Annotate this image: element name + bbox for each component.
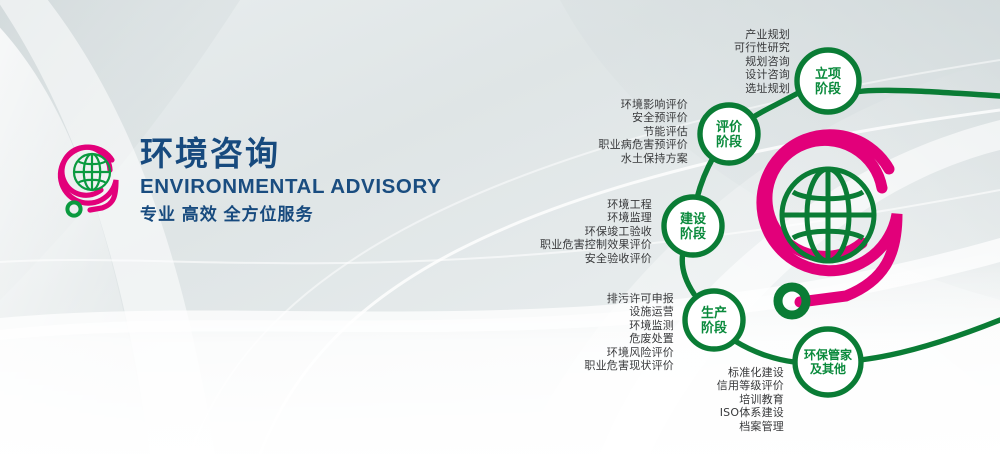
- node-circle-evaluation[interactable]: [700, 105, 758, 163]
- node-circle-construction[interactable]: [664, 197, 722, 255]
- item-list-production: 排污许可申报 设施运营 环境监测 危废处置 环境风险评价 职业危害现状评价: [530, 292, 674, 372]
- process-diagram: [0, 0, 1000, 454]
- item-list-evaluation: 环境影响评价 安全预评价 节能评估 职业病危害预评价 水土保持方案: [548, 98, 688, 165]
- banner-canvas: 环境咨询 ENVIRONMENTAL ADVISORY 专业 高效 全方位服务: [0, 0, 1000, 454]
- node-circle-initiation[interactable]: [797, 50, 859, 112]
- globe-icon: [782, 169, 874, 261]
- item-list-construction: 环境工程 环境监理 环保竣工验收 职业危害控制效果评价 安全验收评价: [508, 198, 652, 265]
- item-list-steward: 标准化建设 信用等级评价 培训教育 ISO体系建设 档案管理: [654, 366, 784, 433]
- node-circle-production[interactable]: [685, 291, 743, 349]
- center-globe-swirl-logo-icon: [762, 135, 897, 315]
- node-circle-steward[interactable]: [795, 329, 861, 395]
- item-list-initiation: 产业规划 可行性研究 规划咨询 设计咨询 选址规划: [668, 28, 790, 95]
